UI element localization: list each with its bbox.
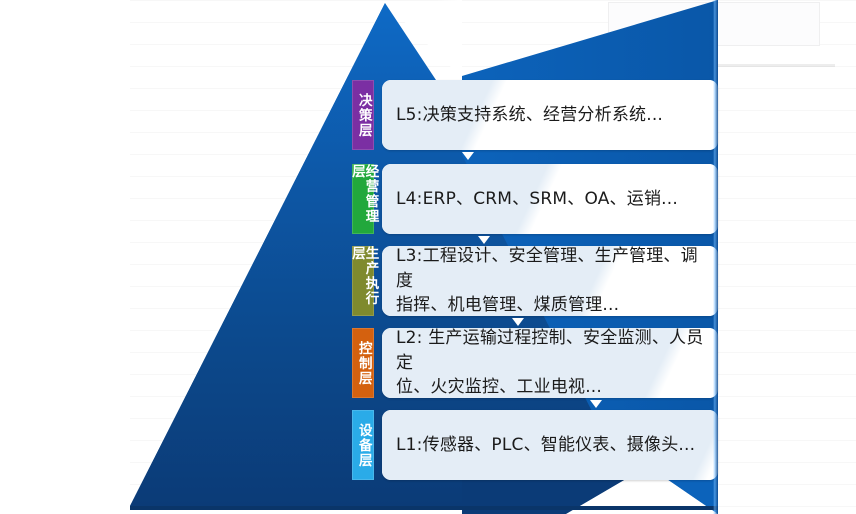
layer-row-l4[interactable]: 经营管理层 L4:ERP、CRM、SRM、OA、运销...: [352, 164, 718, 234]
layer-text-l4: L4:ERP、CRM、SRM、OA、运销...: [382, 187, 690, 212]
flow-arrow-l3-l2: [512, 318, 524, 326]
layer-text-line: 指挥、机电管理、煤质管理...: [396, 293, 706, 316]
layer-text-line: L3:工程设计、安全管理、生产管理、调度: [396, 246, 706, 293]
layer-card-l2[interactable]: L2: 生产运输过程控制、安全监测、人员定 位、火灾监控、工业电视...: [382, 328, 718, 398]
layer-tag-l5: 决策层: [352, 80, 374, 150]
flow-arrow-l2-l1: [590, 400, 602, 408]
layer-text-l1: L1:传感器、PLC、智能仪表、摄像头...: [382, 433, 707, 458]
layer-text-l2: L2: 生产运输过程控制、安全监测、人员定 位、火灾监控、工业电视...: [382, 328, 718, 398]
layer-card-l4[interactable]: L4:ERP、CRM、SRM、OA、运销...: [382, 164, 718, 234]
layer-tag-l1: 设备层: [352, 410, 374, 480]
flow-arrow-l4-l3: [478, 236, 490, 244]
layer-text-line: L5:决策支持系统、经营分析系统...: [396, 103, 663, 128]
layer-rows: 决策层 L5:决策支持系统、经营分析系统... 经营管理层 L4:ERP、CRM…: [0, 0, 856, 514]
layer-text-line: L4:ERP、CRM、SRM、OA、运销...: [396, 187, 678, 212]
layer-card-l5[interactable]: L5:决策支持系统、经营分析系统...: [382, 80, 718, 150]
layer-text-line: 位、火灾监控、工业电视...: [396, 375, 706, 398]
layer-text-l5: L5:决策支持系统、经营分析系统...: [382, 103, 675, 128]
layer-text-line: L2: 生产运输过程控制、安全监测、人员定: [396, 328, 706, 375]
layer-tag-l3: 生产执行层: [352, 246, 374, 316]
layer-card-l1[interactable]: L1:传感器、PLC、智能仪表、摄像头...: [382, 410, 718, 480]
flow-arrow-l5-l4: [462, 152, 474, 160]
layer-row-l1[interactable]: 设备层 L1:传感器、PLC、智能仪表、摄像头...: [352, 410, 718, 480]
diagram-canvas: 决策层 L5:决策支持系统、经营分析系统... 经营管理层 L4:ERP、CRM…: [0, 0, 856, 514]
layer-card-l3[interactable]: L3:工程设计、安全管理、生产管理、调度 指挥、机电管理、煤质管理...: [382, 246, 718, 316]
layer-text-line: L1:传感器、PLC、智能仪表、摄像头...: [396, 433, 695, 458]
layer-text-l3: L3:工程设计、安全管理、生产管理、调度 指挥、机电管理、煤质管理...: [382, 246, 718, 316]
layer-tag-l4: 经营管理层: [352, 164, 374, 234]
layer-row-l2[interactable]: 控制层 L2: 生产运输过程控制、安全监测、人员定 位、火灾监控、工业电视...: [352, 328, 718, 398]
layer-row-l5[interactable]: 决策层 L5:决策支持系统、经营分析系统...: [352, 80, 718, 150]
layer-tag-l2: 控制层: [352, 328, 374, 398]
layer-row-l3[interactable]: 生产执行层 L3:工程设计、安全管理、生产管理、调度 指挥、机电管理、煤质管理.…: [352, 246, 718, 316]
